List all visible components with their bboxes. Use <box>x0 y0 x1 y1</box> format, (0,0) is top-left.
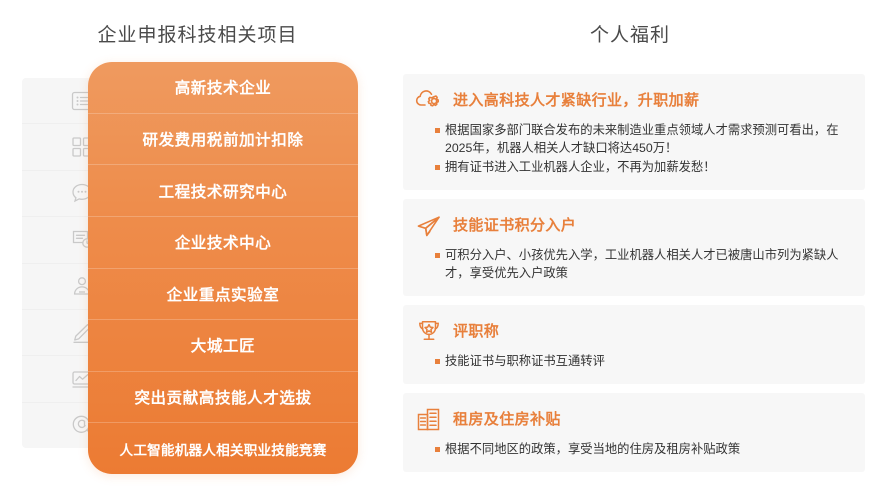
card-item[interactable]: 工程技术研究中心 <box>88 165 358 217</box>
benefit-bullets: 根据国家多部门联合发布的未来制造业重点领域人才需求预测可看出，在2025年，机器… <box>413 121 851 176</box>
benefit-card: 评职称 技能证书与职称证书互通转评 <box>403 305 865 384</box>
benefit-card: 进入高科技人才紧缺行业，升职加薪 根据国家多部门联合发布的未来制造业重点领域人才… <box>403 74 865 190</box>
benefit-header: 评职称 <box>413 317 851 347</box>
bullet-item: 可积分入户、小孩优先入学，工业机器人相关人才已被唐山市列为紧缺人才，享受优先入户… <box>435 246 851 282</box>
paper-plane-icon <box>413 211 445 241</box>
card-item[interactable]: 企业重点实验室 <box>88 269 358 321</box>
bullet-item: 根据不同地区的政策，享受当地的住房及租房补贴政策 <box>435 440 851 458</box>
card-item[interactable]: 研发费用税前加计扣除 <box>88 114 358 166</box>
trophy-icon <box>413 317 445 347</box>
benefit-title: 进入高科技人才紧缺行业，升职加薪 <box>453 91 699 111</box>
left-panel: 企业申报科技相关项目 <box>0 0 395 504</box>
left-panel-title: 企业申报科技相关项目 <box>0 22 395 50</box>
cloud-gear-icon <box>413 86 445 116</box>
card-item[interactable]: 高新技术企业 <box>88 62 358 114</box>
right-panel: 个人福利 进入高科技人才紧缺行业，升职加薪 根据国家多部门联合发布的未来制造业 <box>395 0 880 504</box>
project-list-card: 高新技术企业 研发费用税前加计扣除 工程技术研究中心 企业技术中心 企业重点实验… <box>88 62 358 474</box>
card-item[interactable]: 企业技术中心 <box>88 217 358 269</box>
card-item[interactable]: 大城工匠 <box>88 320 358 372</box>
infographic-page: 企业申报科技相关项目 <box>0 0 880 504</box>
bullet-item: 技能证书与职称证书互通转评 <box>435 352 851 370</box>
benefit-bullets: 可积分入户、小孩优先入学，工业机器人相关人才已被唐山市列为紧缺人才，享受优先入户… <box>413 246 851 282</box>
building-icon <box>413 405 445 435</box>
benefit-header: 进入高科技人才紧缺行业，升职加薪 <box>413 86 851 116</box>
benefit-bullets: 根据不同地区的政策，享受当地的住房及租房补贴政策 <box>413 440 851 458</box>
benefit-title: 租房及住房补贴 <box>453 410 561 430</box>
right-panel-title: 个人福利 <box>395 22 865 50</box>
benefit-title: 技能证书积分入户 <box>453 216 576 236</box>
benefit-title: 评职称 <box>453 322 499 342</box>
benefit-card: 租房及住房补贴 根据不同地区的政策，享受当地的住房及租房补贴政策 <box>403 393 865 472</box>
bullet-item: 拥有证书进入工业机器人企业，不再为加薪发愁！ <box>435 158 851 176</box>
bullet-item: 根据国家多部门联合发布的未来制造业重点领域人才需求预测可看出，在2025年，机器… <box>435 121 851 157</box>
benefit-header: 技能证书积分入户 <box>413 211 851 241</box>
benefit-bullets: 技能证书与职称证书互通转评 <box>413 352 851 370</box>
card-item[interactable]: 突出贡献高技能人才选拔 <box>88 372 358 424</box>
benefits-list: 进入高科技人才紧缺行业，升职加薪 根据国家多部门联合发布的未来制造业重点领域人才… <box>403 74 865 472</box>
benefit-card: 技能证书积分入户 可积分入户、小孩优先入学，工业机器人相关人才已被唐山市列为紧缺… <box>403 199 865 296</box>
card-item[interactable]: 人工智能机器人相关职业技能竞赛 <box>88 423 358 474</box>
benefit-header: 租房及住房补贴 <box>413 405 851 435</box>
